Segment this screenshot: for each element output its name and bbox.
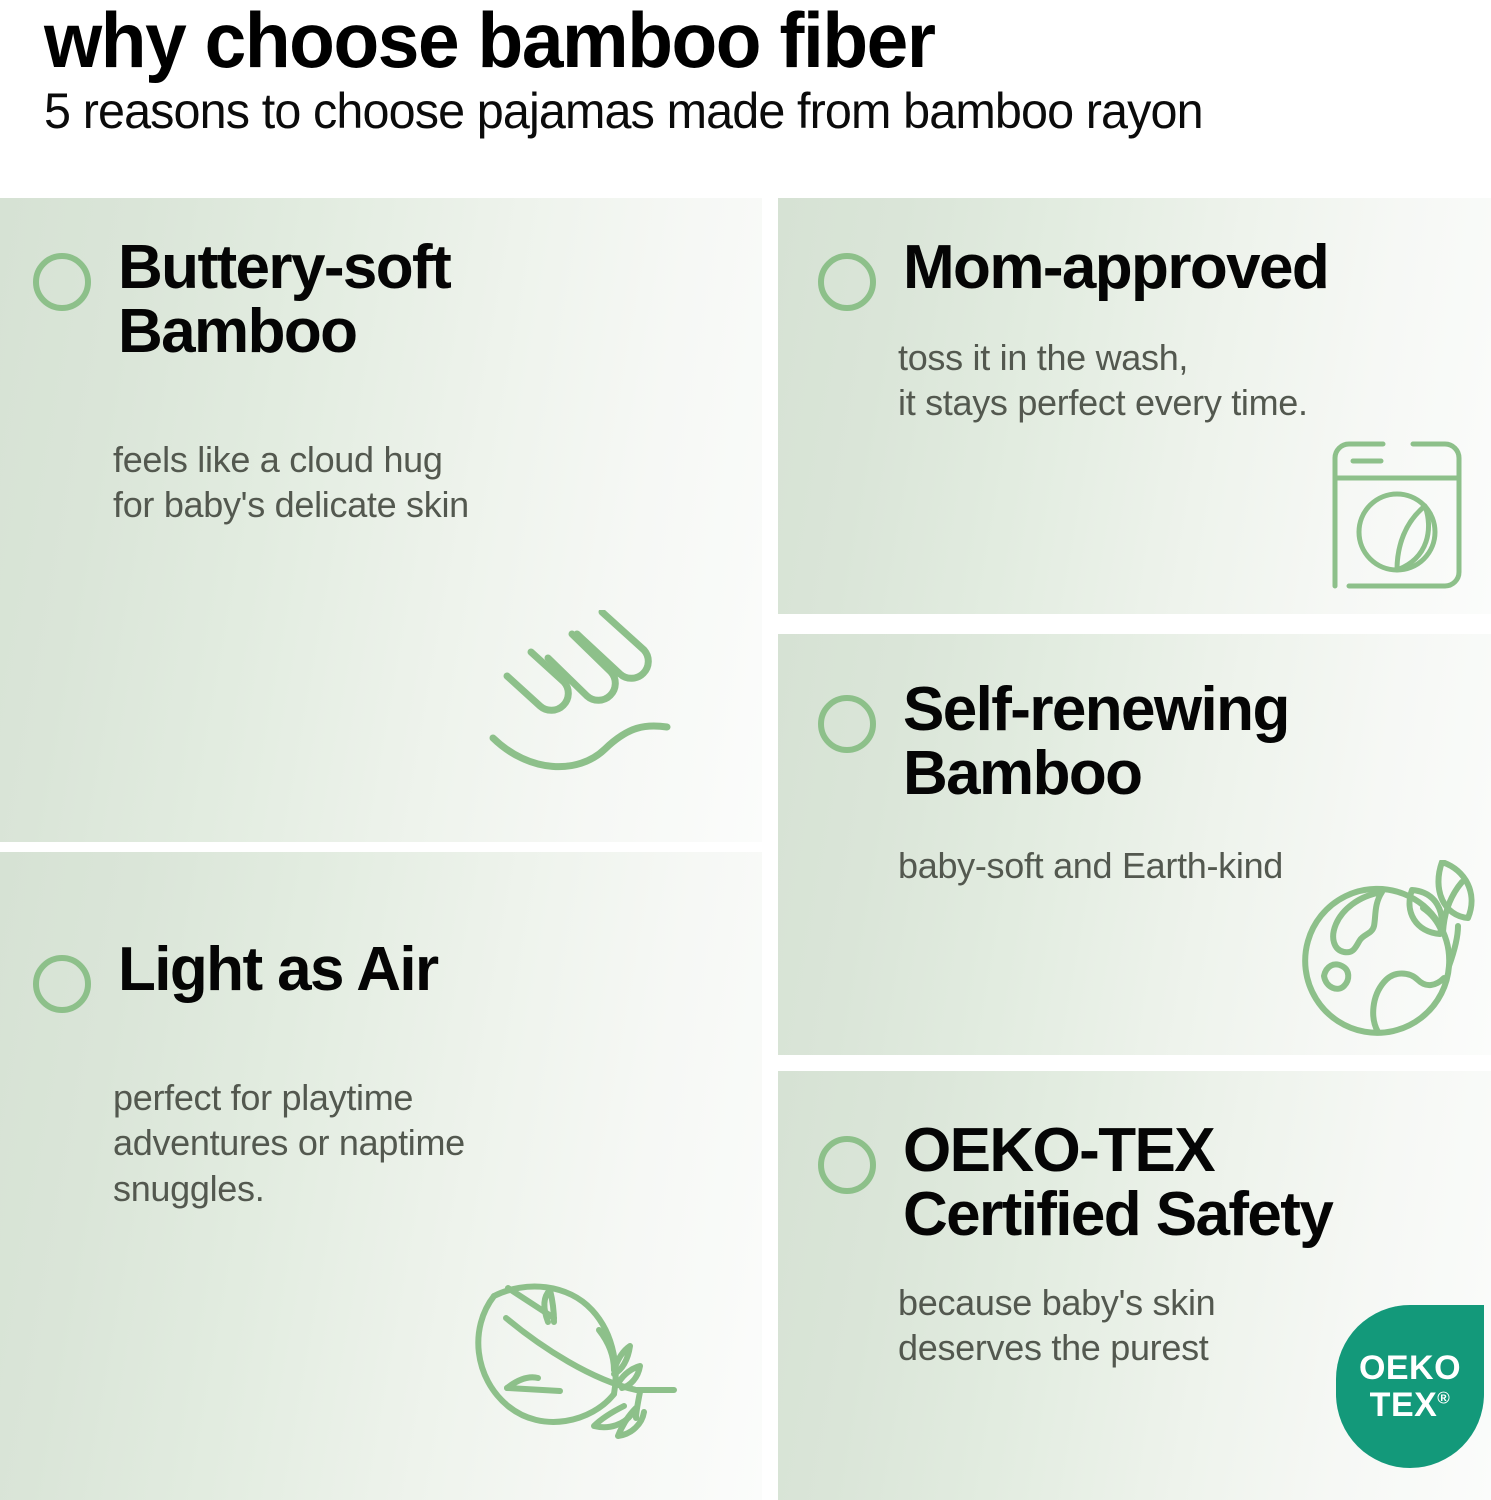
card-header: Mom-approved — [818, 236, 1491, 311]
card-body-text: perfect for playtime adventures or napti… — [113, 1075, 762, 1211]
oeko-tex-badge-line1: OEKO — [1359, 1351, 1461, 1386]
card-title: OEKO-TEX Certified Safety — [903, 1119, 1332, 1248]
card-header: Buttery-soft Bamboo — [33, 236, 762, 365]
oeko-tex-badge-icon: OEKO TEX® — [1336, 1305, 1484, 1468]
card-body-text: baby-soft and Earth-kind — [898, 843, 1491, 888]
card-mom-approved: Mom-approved toss it in the wash, it sta… — [778, 198, 1491, 614]
card-header: Self-renewing Bamboo — [818, 678, 1491, 807]
page-subtitle: 5 reasons to choose pajamas made from ba… — [44, 82, 1426, 141]
oeko-tex-badge-line2-text: TEX — [1370, 1386, 1438, 1424]
card-buttery-soft-bamboo: Buttery-soft Bamboo feels like a cloud h… — [0, 198, 762, 842]
infographic-page: why choose bamboo fiber 5 reasons to cho… — [0, 0, 1491, 1500]
card-light-as-air: Light as Air perfect for playtime advent… — [0, 852, 762, 1500]
card-header: OEKO-TEX Certified Safety — [818, 1119, 1491, 1248]
card-oeko-tex-certified-safety: OEKO-TEX Certified Safety because baby's… — [778, 1071, 1491, 1500]
hand-touching-fabric-icon — [474, 610, 724, 800]
circle-bullet-icon — [818, 253, 876, 311]
circle-bullet-icon — [33, 253, 91, 311]
card-title: Self-renewing Bamboo — [903, 678, 1289, 807]
card-self-renewing-bamboo: Self-renewing Bamboo baby-soft and Earth… — [778, 634, 1491, 1055]
feather-icon — [464, 1266, 694, 1456]
washing-machine-icon — [1317, 436, 1477, 596]
card-title: Buttery-soft Bamboo — [118, 236, 450, 365]
oeko-tex-badge-line2: TEX® — [1370, 1388, 1451, 1423]
card-title: Light as Air — [118, 938, 438, 1002]
circle-bullet-icon — [818, 1136, 876, 1194]
page-header: why choose bamboo fiber 5 reasons to cho… — [0, 0, 1491, 198]
card-body-text: toss it in the wash, it stays perfect ev… — [898, 335, 1491, 426]
circle-bullet-icon — [818, 695, 876, 753]
card-header: Light as Air — [33, 938, 762, 1013]
registered-mark-icon: ® — [1437, 1388, 1450, 1407]
circle-bullet-icon — [33, 955, 91, 1013]
card-body-text: feels like a cloud hug for baby's delica… — [113, 437, 762, 528]
page-title: why choose bamboo fiber — [44, 2, 1412, 78]
card-title: Mom-approved — [903, 236, 1328, 300]
